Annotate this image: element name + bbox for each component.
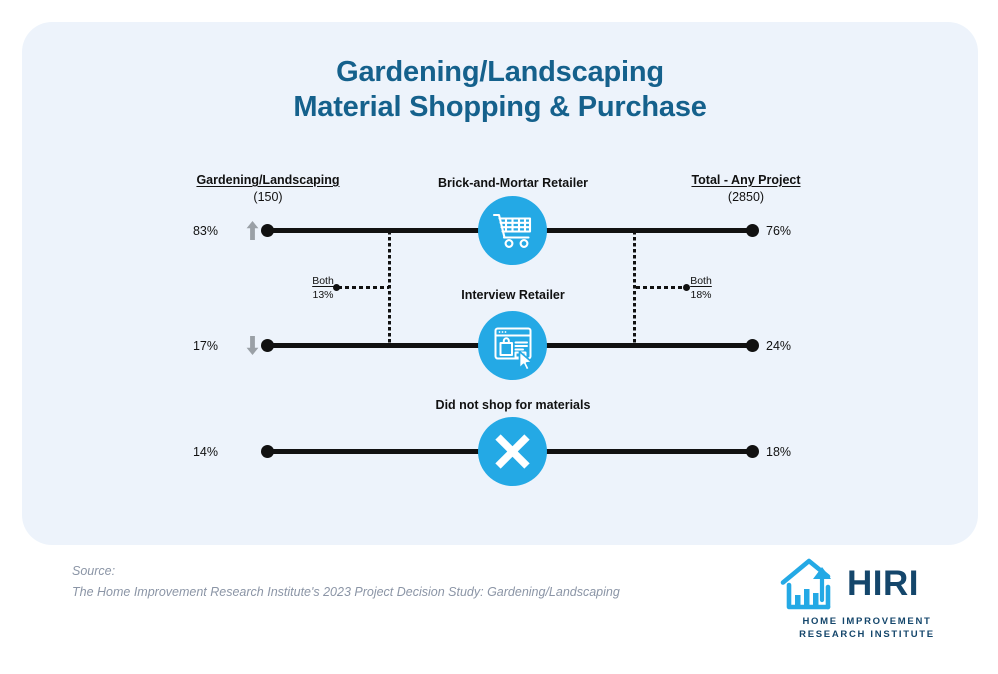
row-right-value-interview-retailer: 24% — [766, 339, 836, 353]
logo-subtitle-line-1: HOME IMPROVEMENT — [785, 615, 949, 628]
row-left-value-brick-and-mortar: 83% — [150, 224, 218, 238]
both-label-right-value: 18% — [671, 288, 731, 302]
row-right-endpoint-interview-retailer — [746, 339, 759, 352]
source-note: Source: The Home Improvement Research In… — [72, 561, 732, 603]
source-text: The Home Improvement Research Institute'… — [72, 582, 732, 603]
online-retailer-icon — [478, 311, 547, 380]
column-header-left-base: (150) — [168, 190, 368, 204]
both-label-left-value: 13% — [293, 288, 353, 302]
column-header-right: Total - Any Project (2850) — [646, 173, 846, 204]
row-label-brick-and-mortar: Brick-and-Mortar Retailer — [363, 176, 663, 190]
row-label-did-not-shop: Did not shop for materials — [363, 398, 663, 412]
down-arrow-icon — [246, 336, 259, 355]
title-line-2: Material Shopping & Purchase — [22, 90, 978, 125]
row-right-value-did-not-shop: 18% — [766, 445, 836, 459]
logo-subtitle: HOME IMPROVEMENT RESEARCH INSTITUTE — [785, 615, 949, 641]
row-left-value-did-not-shop: 14% — [150, 445, 218, 459]
row-right-endpoint-brick-and-mortar — [746, 224, 759, 237]
row-label-interview-retailer: Interview Retailer — [363, 288, 663, 302]
hiri-logo: HIRI HOME IMPROVEMENT RESEARCH INSTITUTE — [779, 557, 949, 645]
column-header-left-title: Gardening/Landscaping — [168, 173, 368, 187]
row-left-value-interview-retailer: 17% — [150, 339, 218, 353]
page-title: Gardening/Landscaping Material Shopping … — [22, 55, 978, 125]
logo-wordmark: HIRI — [847, 564, 919, 604]
both-label-right: Both 18% — [671, 274, 731, 302]
source-label: Source: — [72, 561, 732, 582]
row-line-left-brick-and-mortar — [267, 228, 493, 233]
title-line-1: Gardening/Landscaping — [336, 56, 664, 88]
logo-subtitle-line-2: RESEARCH INSTITUTE — [785, 628, 949, 641]
column-header-right-base: (2850) — [646, 190, 846, 204]
row-right-endpoint-did-not-shop — [746, 445, 759, 458]
shopping-cart-icon — [478, 196, 547, 265]
both-label-left: Both 13% — [293, 274, 353, 302]
both-label-left-text: Both — [293, 274, 353, 288]
house-chart-icon — [779, 557, 845, 613]
up-arrow-icon — [246, 221, 259, 240]
row-line-right-brick-and-mortar — [530, 228, 752, 233]
row-line-left-interview-retailer — [267, 343, 493, 348]
row-right-value-brick-and-mortar: 76% — [766, 224, 836, 238]
infographic-canvas: Gardening/Landscaping Material Shopping … — [0, 0, 998, 674]
both-label-right-text: Both — [671, 274, 731, 288]
column-header-right-title: Total - Any Project — [646, 173, 846, 187]
cross-icon — [478, 417, 547, 486]
column-header-left: Gardening/Landscaping (150) — [168, 173, 368, 204]
row-line-right-did-not-shop — [530, 449, 752, 454]
row-line-right-interview-retailer — [530, 343, 752, 348]
row-line-left-did-not-shop — [267, 449, 493, 454]
